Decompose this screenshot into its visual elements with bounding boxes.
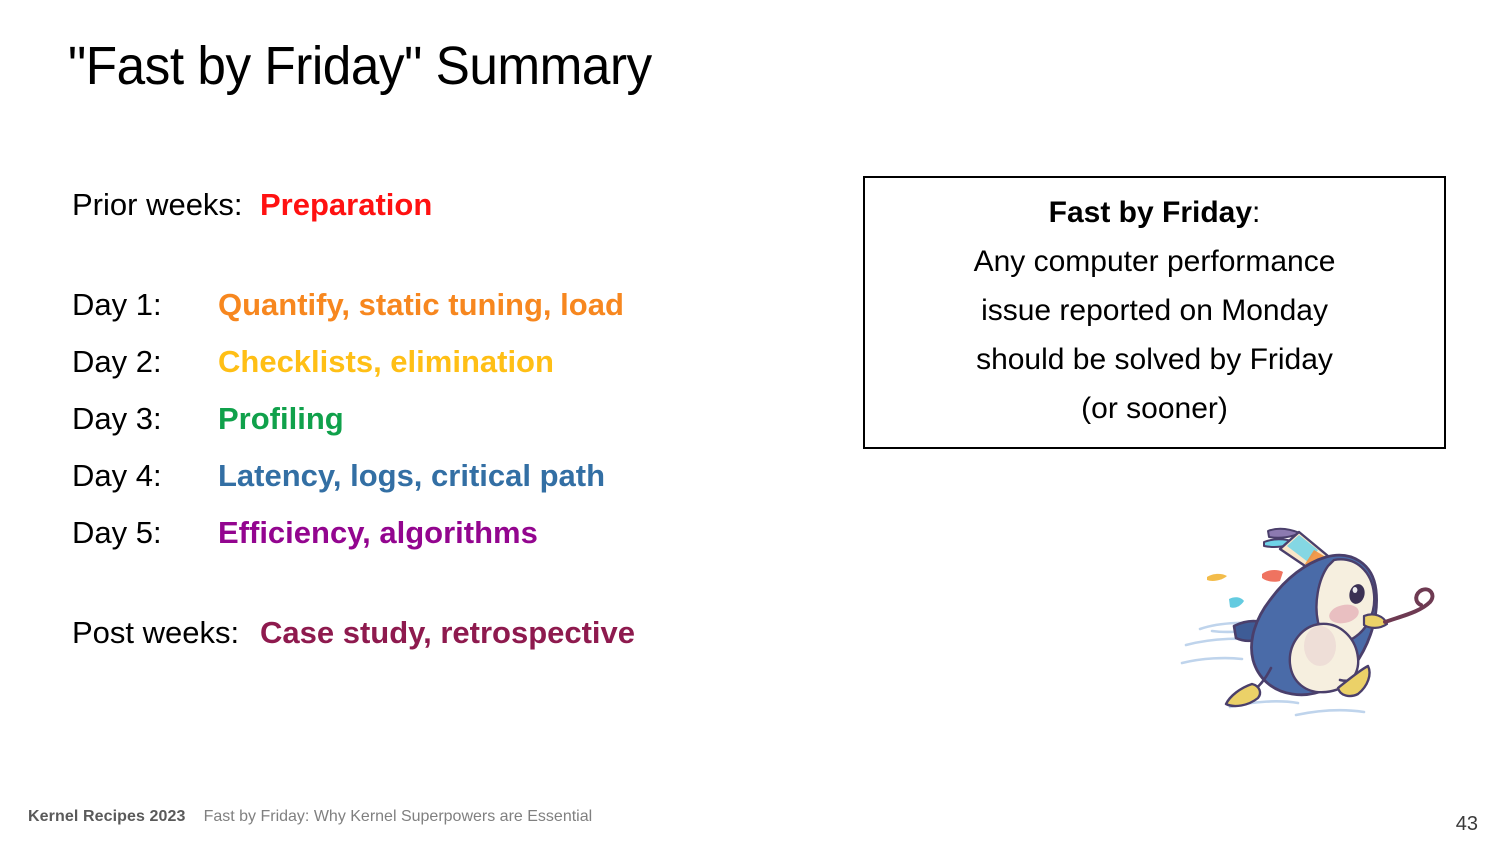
outline-row-prior-weeks: Prior weeks: Preparation: [72, 187, 862, 244]
party-blower-icon: [1385, 589, 1432, 622]
outline-row-day-4: Day 4: Latency, logs, critical path: [72, 458, 862, 515]
outline-row-label: Prior weeks:: [72, 187, 260, 223]
outline-row-label: Post weeks:: [72, 615, 260, 651]
outline-row-label: Day 3:: [72, 401, 218, 437]
page-number: 43: [1456, 813, 1478, 836]
definition-heading: Fast by Friday:: [1049, 188, 1261, 237]
summary-outline: Prior weeks: Preparation Day 1: Quantify…: [72, 187, 862, 672]
slide-canvas: "Fast by Friday" Summary Prior weeks: Pr…: [0, 0, 1500, 844]
outline-row-value: Checklists, elimination: [218, 344, 554, 380]
definition-line: (or sooner): [1081, 384, 1228, 433]
outline-row-day-2: Day 2: Checklists, elimination: [72, 344, 862, 401]
outline-row-label: Day 5:: [72, 515, 218, 551]
outline-row-value: Case study, retrospective: [260, 615, 635, 651]
footer-talk-title: Fast by Friday: Why Kernel Superpowers a…: [204, 808, 593, 826]
definition-line: should be solved by Friday: [976, 335, 1333, 384]
running-party-penguin-illustration: [1168, 498, 1458, 743]
footer-brand: Kernel Recipes 2023: [28, 808, 186, 826]
penguin-svg: [1168, 498, 1458, 743]
outline-row-label: Day 2:: [72, 344, 218, 380]
outline-row-day-1: Day 1: Quantify, static tuning, load: [72, 287, 862, 344]
definition-heading-colon: :: [1252, 196, 1260, 229]
outline-row-value: Profiling: [218, 401, 344, 437]
definition-line: Any computer performance: [974, 237, 1336, 286]
outline-row-label: Day 1:: [72, 287, 218, 323]
outline-row-day-3: Day 3: Profiling: [72, 401, 862, 458]
fast-by-friday-definition-box: Fast by Friday: Any computer performance…: [863, 176, 1446, 449]
outline-row-label: Day 4:: [72, 458, 218, 494]
outline-spacer-top: [72, 244, 862, 287]
outline-row-value: Efficiency, algorithms: [218, 515, 538, 551]
definition-line: issue reported on Monday: [981, 286, 1328, 335]
definition-heading-bold: Fast by Friday: [1049, 196, 1252, 229]
page-title: "Fast by Friday" Summary: [68, 36, 652, 96]
outline-row-value: Quantify, static tuning, load: [218, 287, 624, 323]
outline-row-value: Latency, logs, critical path: [218, 458, 605, 494]
outline-row-value: Preparation: [260, 187, 432, 223]
outline-row-day-5: Day 5: Efficiency, algorithms: [72, 515, 862, 572]
penguin-eye-glint: [1353, 587, 1358, 593]
outline-row-post-weeks: Post weeks: Case study, retrospective: [72, 615, 862, 672]
slide-footer: Kernel Recipes 2023 Fast by Friday: Why …: [28, 808, 592, 826]
outline-spacer-bottom: [72, 572, 862, 615]
